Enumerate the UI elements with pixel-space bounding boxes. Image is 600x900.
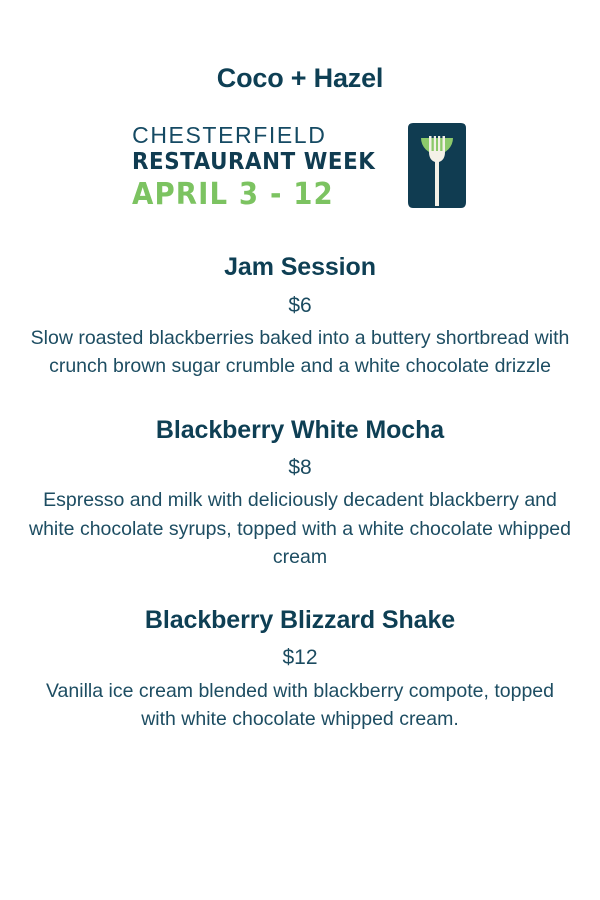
menu-item: Jam Session $6 Slow roasted blackberries… (0, 252, 600, 380)
menu-item-name: Blackberry White Mocha (16, 415, 584, 446)
menu-item-description: Vanilla ice cream blended with blackberr… (28, 677, 573, 734)
logo-line-chesterfield: CHESTERFIELD (132, 124, 326, 147)
menu-page: Coco + Hazel CHESTERFIELD RESTAURANT WEE… (0, 0, 600, 900)
menu-item-name: Jam Session (16, 252, 584, 283)
menu-item: Blackberry White Mocha $8 Espresso and m… (0, 415, 600, 572)
menu-item: Blackberry Blizzard Shake $12 Vanilla ic… (0, 605, 600, 733)
menu-item-description: Slow roasted blackberries baked into a b… (28, 324, 573, 381)
menu-list: Jam Session $6 Slow roasted blackberries… (0, 252, 600, 733)
menu-item-description: Espresso and milk with deliciously decad… (28, 486, 573, 571)
menu-item-price: $6 (16, 290, 584, 322)
menu-item-price: $8 (16, 452, 584, 484)
page-title: Coco + Hazel (0, 0, 600, 94)
logo-wordmark: CHESTERFIELD RESTAURANT WEEK APRIL 3 - 1… (132, 122, 394, 210)
restaurant-week-logo: CHESTERFIELD RESTAURANT WEEK APRIL 3 - 1… (0, 122, 600, 210)
logo-line-dates: APRIL 3 - 12 (132, 180, 334, 210)
logo-group: CHESTERFIELD RESTAURANT WEEK APRIL 3 - 1… (132, 122, 468, 210)
menu-item-price: $12 (16, 642, 584, 674)
logo-line-restaurant-week: RESTAURANT WEEK (132, 150, 375, 176)
menu-item-name: Blackberry Blizzard Shake (16, 605, 584, 636)
fork-and-bowl-icon (406, 122, 468, 210)
